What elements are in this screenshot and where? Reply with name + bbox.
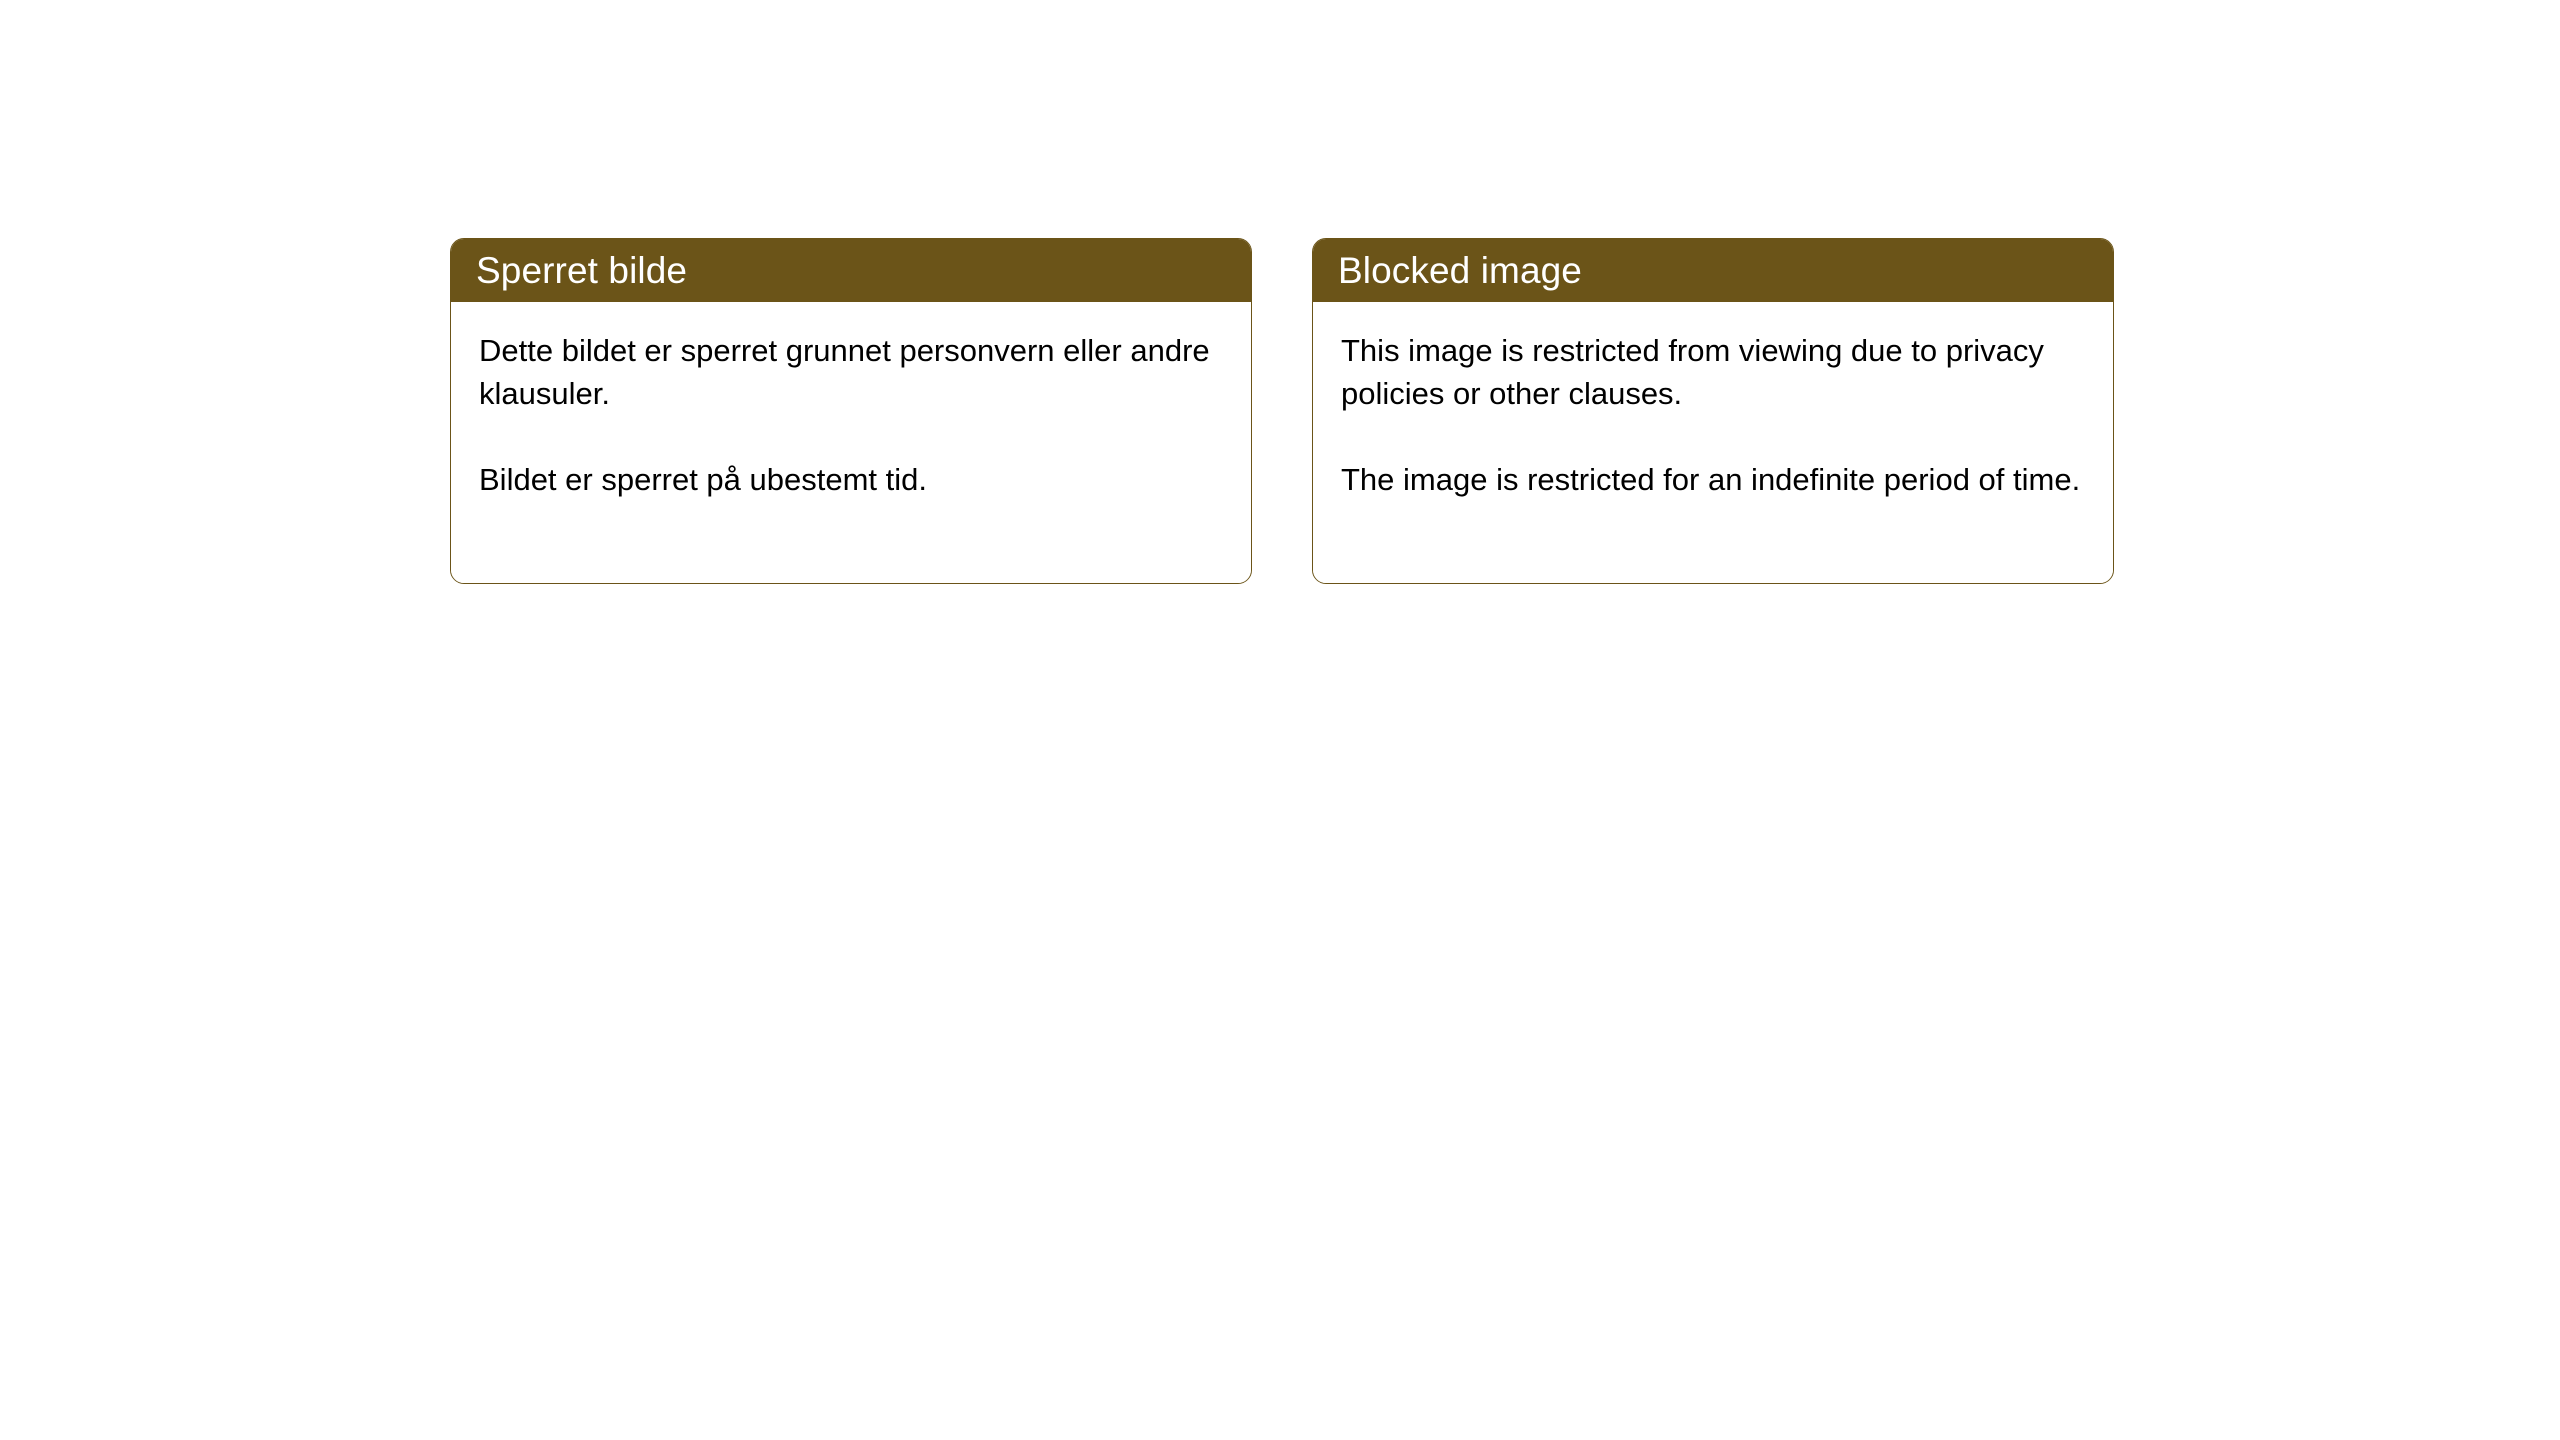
- card-header-norwegian: Sperret bilde: [450, 238, 1252, 302]
- blocked-image-notice-area: Sperret bilde Dette bildet er sperret gr…: [450, 238, 2114, 584]
- blocked-image-card-norwegian: Sperret bilde Dette bildet er sperret gr…: [450, 238, 1252, 584]
- card-body-english: This image is restricted from viewing du…: [1313, 302, 2113, 583]
- card-title-norwegian: Sperret bilde: [476, 252, 687, 289]
- card-header-english: Blocked image: [1312, 238, 2114, 302]
- card-paragraph-norwegian-2: Bildet er sperret på ubestemt tid.: [479, 458, 1227, 501]
- card-paragraph-english-1: This image is restricted from viewing du…: [1341, 329, 2089, 415]
- card-paragraph-norwegian-1: Dette bildet er sperret grunnet personve…: [479, 329, 1227, 415]
- card-title-english: Blocked image: [1338, 252, 1582, 289]
- card-body-norwegian: Dette bildet er sperret grunnet personve…: [451, 302, 1251, 583]
- blocked-image-card-english: Blocked image This image is restricted f…: [1312, 238, 2114, 584]
- card-paragraph-english-2: The image is restricted for an indefinit…: [1341, 458, 2089, 501]
